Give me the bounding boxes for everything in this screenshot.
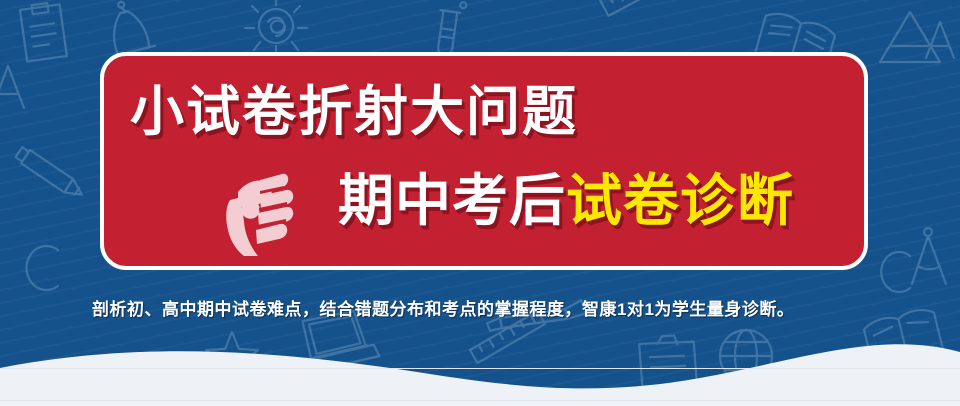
letter-a-icon (0, 66, 24, 108)
divider-line-lower (0, 400, 960, 401)
ruler-icon (600, 0, 690, 16)
banner-subtitle: 剖析初、高中期中试卷难点，结合错题分布和考点的掌握程度，智康1对1为学生量身诊断… (92, 298, 794, 322)
fist-icon (214, 166, 306, 258)
divider-line-upper (0, 368, 960, 369)
triangle-ruler-icon (880, 12, 940, 62)
compass-icon (912, 228, 946, 284)
headline-line-2: 期中考后试卷诊断 (338, 170, 794, 232)
letter-c-icon (881, 252, 910, 292)
headline-line-2-accent-segment: 试卷诊断 (566, 169, 794, 232)
pencil-icon (14, 146, 86, 202)
headline-line-2-white-segment: 期中考后 (338, 169, 566, 232)
headline-line-1: 小试卷折射大问题 (130, 82, 578, 142)
test-tube-icon (434, 0, 467, 58)
clipboard-icon (20, 1, 67, 61)
sun-spiral-icon (245, 0, 307, 55)
letter-c-icon (27, 246, 58, 290)
letter-a-icon (926, 22, 954, 58)
promo-banner: 小试卷折射大问题 (0, 0, 960, 406)
